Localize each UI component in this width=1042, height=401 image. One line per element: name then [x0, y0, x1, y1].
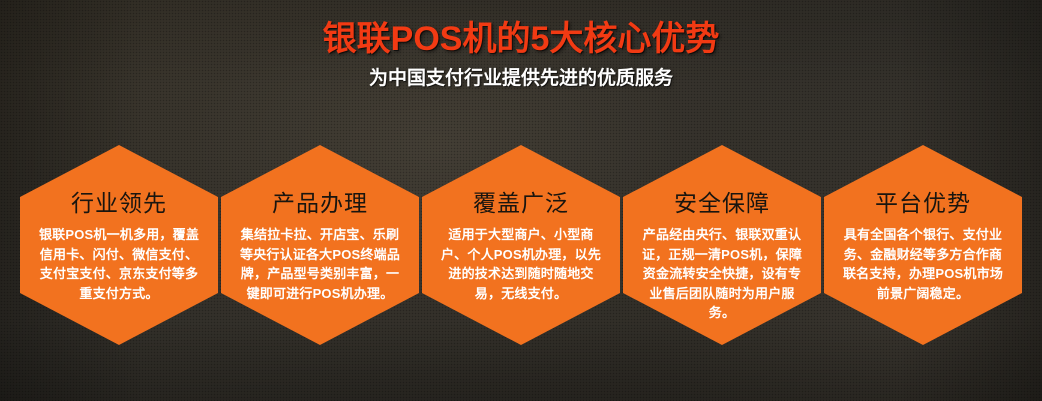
feature-heading: 覆盖广泛 [428, 145, 614, 217]
feature-card-security-guarantee[interactable]: 安全保障 产品经由央行、银联双重认证，正规一清POS机，保障资金流转安全快捷，设… [623, 145, 821, 345]
page-subtitle: 为中国支付行业提供先进的优质服务 [0, 60, 1042, 92]
promo-banner: 银联POS机的5大核心优势 为中国支付行业提供先进的优质服务 行业领先 银联PO… [0, 0, 1042, 401]
feature-card-wide-coverage[interactable]: 覆盖广泛 适用于大型商户、小型商户、个人POS机办理，以先进的技术达到随时随地交… [422, 145, 620, 345]
feature-body: 具有全国各个银行、支付业务、金融财经等多方合作商联名支持，办理POS机市场前景广… [830, 217, 1016, 303]
feature-heading: 行业领先 [26, 145, 212, 217]
feature-heading: 产品办理 [227, 145, 413, 217]
feature-card-product-application[interactable]: 产品办理 集结拉卡拉、开店宝、乐刷等央行认证各大POS终端品牌，产品型号类别丰富… [221, 145, 419, 345]
banner-header: 银联POS机的5大核心优势 为中国支付行业提供先进的优质服务 [0, 0, 1042, 92]
feature-body: 产品经由央行、银联双重认证，正规一清POS机，保障资金流转安全快捷，设有专业售后… [629, 217, 815, 323]
feature-hexagon-row: 行业领先 银联POS机一机多用，覆盖信用卡、闪付、微信支付、支付宝支付、京东支付… [20, 145, 1022, 345]
feature-body: 银联POS机一机多用，覆盖信用卡、闪付、微信支付、支付宝支付、京东支付等多重支付… [26, 217, 212, 303]
feature-body: 集结拉卡拉、开店宝、乐刷等央行认证各大POS终端品牌，产品型号类别丰富，一键即可… [227, 217, 413, 303]
feature-card-industry-leading[interactable]: 行业领先 银联POS机一机多用，覆盖信用卡、闪付、微信支付、支付宝支付、京东支付… [20, 145, 218, 345]
feature-heading: 安全保障 [629, 145, 815, 217]
page-title: 银联POS机的5大核心优势 [0, 0, 1042, 60]
feature-heading: 平台优势 [830, 145, 1016, 217]
feature-card-platform-advantage[interactable]: 平台优势 具有全国各个银行、支付业务、金融财经等多方合作商联名支持，办理POS机… [824, 145, 1022, 345]
feature-body: 适用于大型商户、小型商户、个人POS机办理，以先进的技术达到随时随地交易，无线支… [428, 217, 614, 303]
